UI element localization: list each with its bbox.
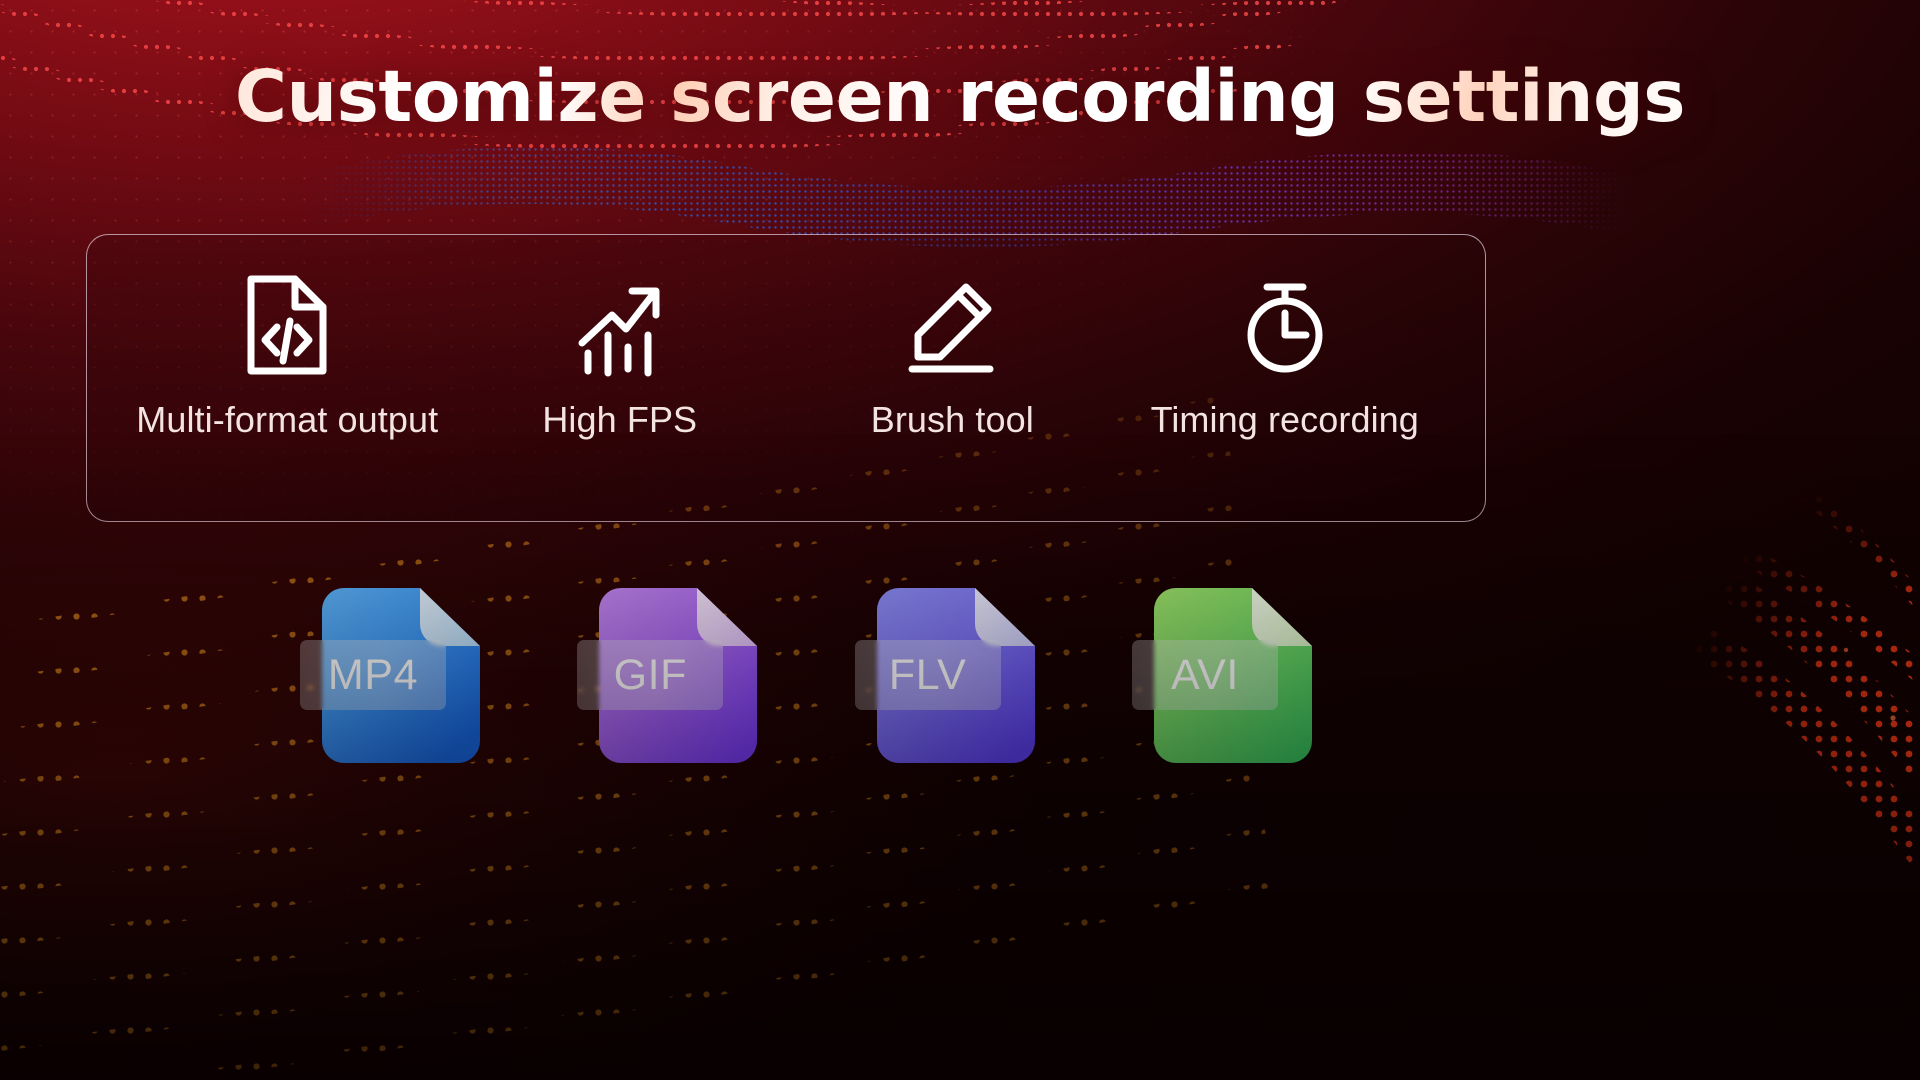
feature-label: High FPS [542,399,697,441]
bar-chart-up-icon [576,273,664,377]
background-diagonal-dots [0,0,1920,1080]
background-glow-left [0,0,1920,1080]
stopwatch-icon [1238,273,1332,377]
background-particle-wave [0,0,1920,1080]
format-item-mp4[interactable]: MP4 [300,588,468,763]
format-item-gif[interactable]: GIF [577,588,745,763]
feature-brush-tool: Brush tool [786,235,1119,521]
format-badge: AVI [1132,640,1278,710]
feature-label: Timing recording [1151,399,1419,441]
background-dotted-arcs [0,0,1920,1080]
feature-high-fps: High FPS [454,235,787,521]
format-item-avi[interactable]: AVI [1132,588,1300,763]
format-badge: FLV [855,640,1001,710]
format-item-flv[interactable]: FLV [855,588,1023,763]
pencil-underline-icon [904,273,1000,377]
background-gradient [0,0,1920,1080]
feature-timing-recording: Timing recording [1119,235,1452,521]
code-file-icon [245,273,329,377]
page-title: Customize screen recording settings [0,56,1920,138]
background-dot-grid [0,0,1920,1080]
background-bottom-shade [0,0,1920,1080]
feature-label: Multi-format output [136,399,438,441]
feature-label: Brush tool [871,399,1034,441]
format-icon-row: MP4 [300,588,1300,763]
format-badge: GIF [577,640,723,710]
format-badge: MP4 [300,640,446,710]
features-card: Multi-format output High FPS [86,234,1486,522]
feature-multi-format-output: Multi-format output [121,235,454,521]
slide-canvas: Customize screen recording settings Mult… [0,0,1920,1080]
